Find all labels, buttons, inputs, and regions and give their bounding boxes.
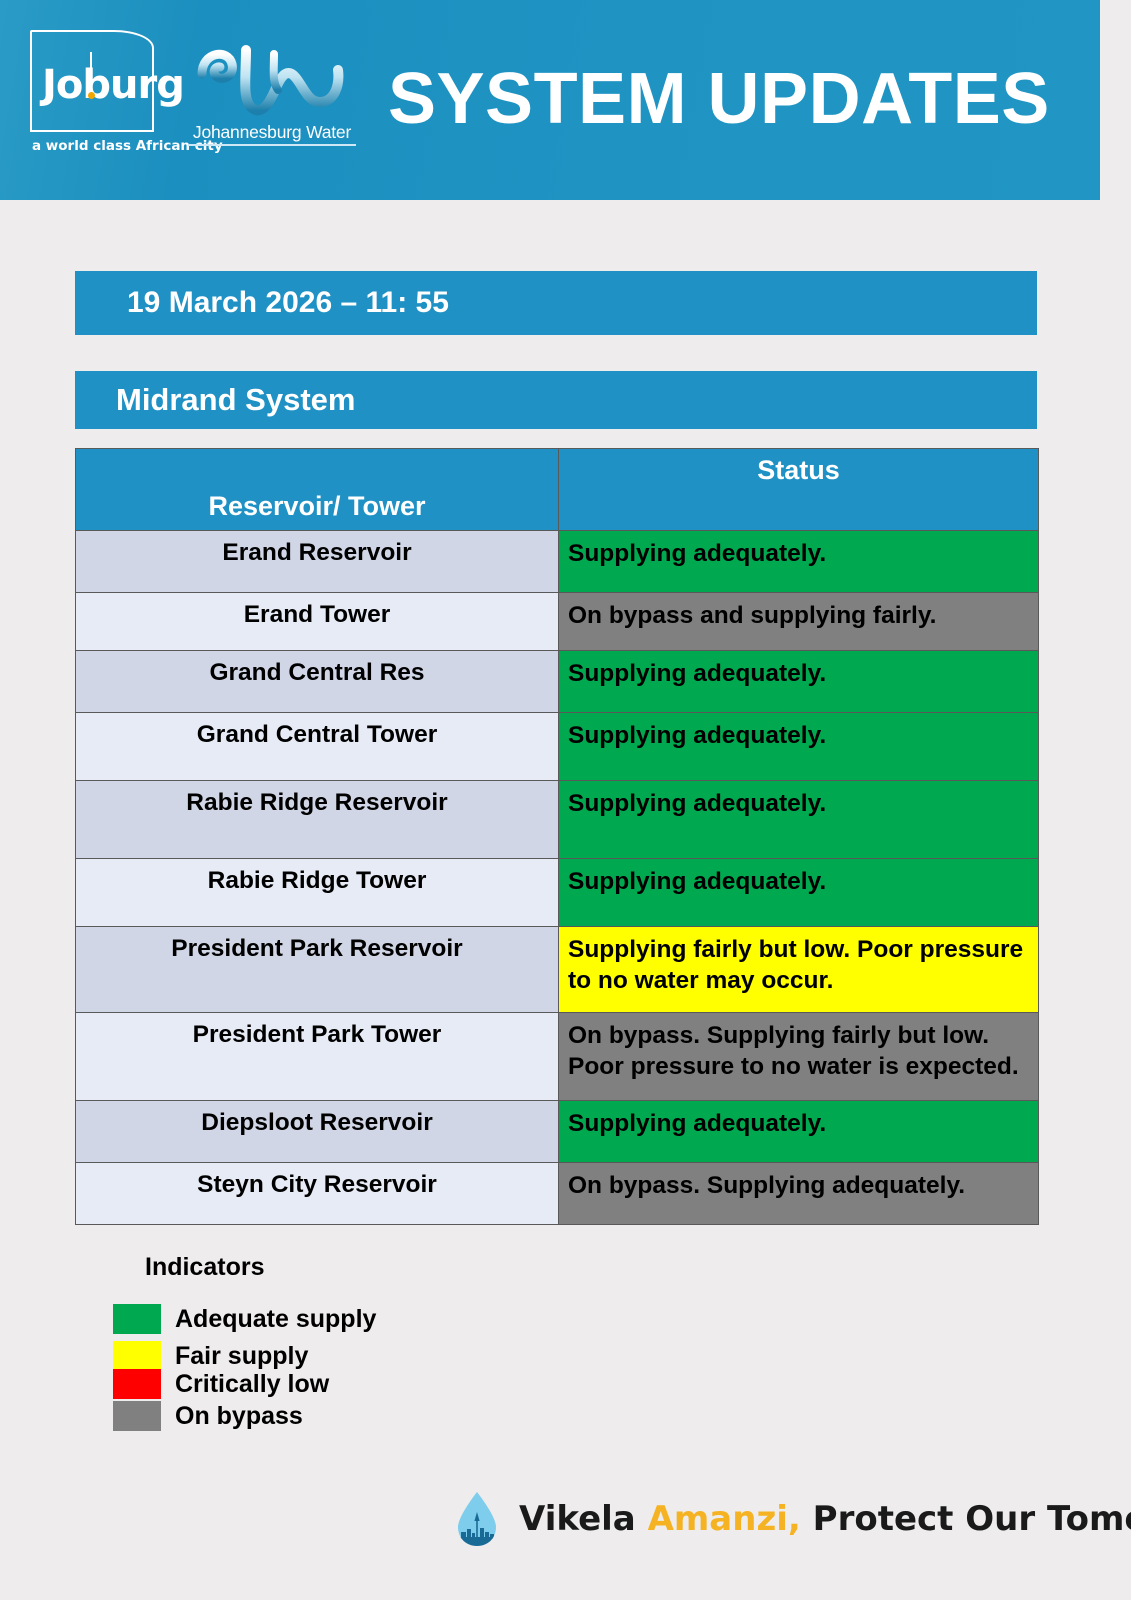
legend-swatch-green — [113, 1304, 161, 1334]
status-cell: Supplying adequately. — [559, 713, 1039, 781]
table-row: Diepsloot ReservoirSupplying adequately. — [76, 1101, 1039, 1163]
system-name-text: Midrand System — [116, 382, 355, 418]
table-row: Rabie Ridge TowerSupplying adequately. — [76, 859, 1039, 927]
johannesburg-water-logo: Johannesburg Water — [188, 44, 356, 156]
legend-label: Critically low — [175, 1370, 329, 1399]
status-cell: On bypass. Supplying adequately. — [559, 1163, 1039, 1225]
joburg-wordmark: Joburg — [42, 62, 184, 108]
system-name-bar: Midrand System — [75, 371, 1037, 429]
reservoir-name-cell: Grand Central Res — [76, 651, 559, 713]
legend-swatch-grey — [113, 1401, 161, 1431]
status-cell: Supplying adequately. — [559, 651, 1039, 713]
status-cell: Supplying adequately. — [559, 781, 1039, 859]
reservoir-name-cell: Grand Central Tower — [76, 713, 559, 781]
logo-underline — [188, 144, 356, 146]
legend-label: On bypass — [175, 1402, 303, 1431]
status-cell: Supplying adequately. — [559, 531, 1039, 593]
reservoir-name-cell: Rabie Ridge Reservoir — [76, 781, 559, 859]
reservoir-name-cell: Diepsloot Reservoir — [76, 1101, 559, 1163]
table-header-row: Reservoir/ Tower Status — [76, 449, 1039, 531]
date-time-text: 19 March 2026 – 11: 55 — [127, 286, 449, 320]
water-drop-city-skyline-icon — [455, 1490, 499, 1548]
column-header-status: Status — [559, 449, 1039, 531]
reservoir-name-cell: Rabie Ridge Tower — [76, 859, 559, 927]
reservoir-status-table: Reservoir/ Tower Status Erand ReservoirS… — [75, 448, 1039, 1225]
status-cell: Supplying fairly but low. Poor pressure … — [559, 927, 1039, 1013]
joburg-orange-dot — [88, 92, 95, 99]
reservoir-name-cell: President Park Tower — [76, 1013, 559, 1101]
reservoir-name-cell: President Park Reservoir — [76, 927, 559, 1013]
status-cell: Supplying adequately. — [559, 1101, 1039, 1163]
status-cell: Supplying adequately. — [559, 859, 1039, 927]
table-row: Steyn City ReservoirOn bypass. Supplying… — [76, 1163, 1039, 1225]
reservoir-name-cell: Erand Reservoir — [76, 531, 559, 593]
table-row: Rabie Ridge ReservoirSupplying adequatel… — [76, 781, 1039, 859]
table-row: President Park ReservoirSupplying fairly… — [76, 927, 1039, 1013]
reservoir-name-cell: Steyn City Reservoir — [76, 1163, 559, 1225]
table-header: Reservoir/ Tower Status — [76, 449, 1039, 531]
legend-label: Adequate supply — [175, 1305, 376, 1334]
table-row: Grand Central ResSupplying adequately. — [76, 651, 1039, 713]
table-row: Grand Central TowerSupplying adequately. — [76, 713, 1039, 781]
legend-swatch-red — [113, 1369, 161, 1399]
legend-label: Fair supply — [175, 1342, 308, 1371]
johannesburg-water-name: Johannesburg Water — [188, 122, 356, 143]
footer-text-part-1: Vikela — [519, 1499, 648, 1539]
table-row: Erand TowerOn bypass and supplying fairl… — [76, 593, 1039, 651]
footer-text-part-3: Protect Our Tomorrow — [801, 1499, 1131, 1539]
footer-slogan: Vikela Amanzi, Protect Our Tomorrow — [455, 1490, 1131, 1548]
date-time-bar: 19 March 2026 – 11: 55 — [75, 271, 1037, 335]
legend-item-adequate-supply: Adequate supply — [113, 1304, 376, 1334]
legend-item-critically-low: Critically low — [113, 1369, 329, 1399]
indicators-title: Indicators — [145, 1253, 264, 1282]
joburg-shield-icon: Joburg a world class African city — [30, 30, 180, 170]
table-row: Erand ReservoirSupplying adequately. — [76, 531, 1039, 593]
status-cell: On bypass. Supplying fairly but low. Poo… — [559, 1013, 1039, 1101]
legend-swatch-yellow — [113, 1341, 161, 1371]
table-row: President Park TowerOn bypass. Supplying… — [76, 1013, 1039, 1101]
reservoir-name-cell: Erand Tower — [76, 593, 559, 651]
table-body: Erand ReservoirSupplying adequately.Eran… — [76, 531, 1039, 1225]
johannesburg-water-wave-icon — [188, 44, 356, 120]
footer-text: Vikela Amanzi, Protect Our Tomorrow — [519, 1499, 1131, 1539]
page-header-banner: Joburg a world class African city Johann… — [0, 0, 1100, 200]
page-title: SYSTEM UPDATES — [388, 58, 1050, 140]
legend-item-fair-supply: Fair supply — [113, 1341, 308, 1371]
status-cell: On bypass and supplying fairly. — [559, 593, 1039, 651]
column-header-reservoir-tower: Reservoir/ Tower — [76, 449, 559, 531]
footer-text-part-2: Amanzi, — [648, 1499, 801, 1539]
legend-item-on-bypass: On bypass — [113, 1401, 303, 1431]
